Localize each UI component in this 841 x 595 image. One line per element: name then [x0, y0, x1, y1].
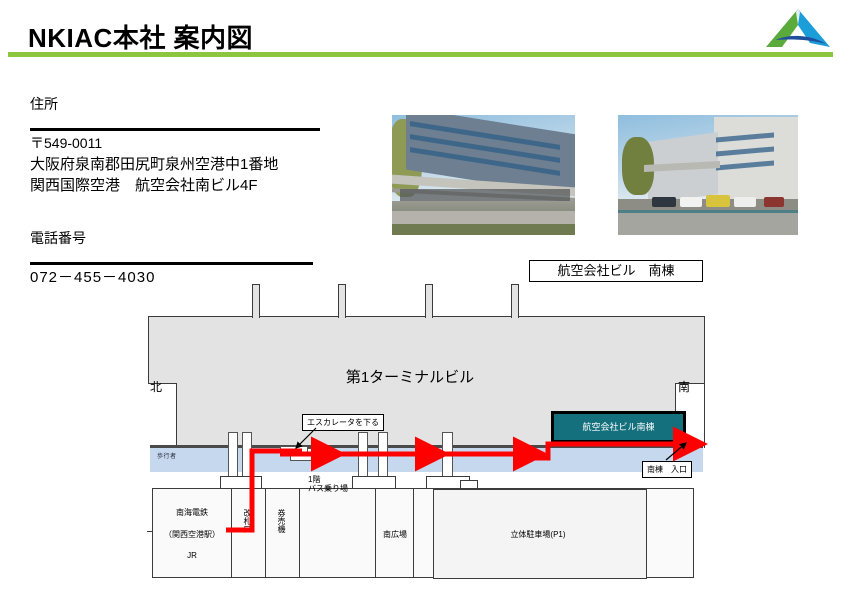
photo-car: [652, 197, 676, 207]
row-divider: [231, 489, 232, 577]
phone-label: 電話番号: [30, 228, 86, 248]
bus-stop-line-1: 1階: [308, 475, 348, 484]
photo-car: [734, 197, 756, 207]
terminal-map-diagram: 第1ターミナルビル 北 南 航空会社ビル南棟 歩行者 南海: [130, 298, 720, 583]
address-label: 住所: [30, 94, 58, 114]
parking-garage-label: 立体駐車場(P1): [483, 529, 593, 540]
title-underline-rule: [8, 52, 833, 57]
photo-building-main: [714, 117, 798, 201]
terminal-label: 第1ターミナルビル: [280, 366, 540, 387]
row-divider: [265, 489, 266, 577]
pedestrian-label: 歩行者: [157, 451, 177, 460]
address-line-1: 大阪府泉南郡田尻町泉州空港中1番地: [30, 154, 278, 175]
address-divider: [30, 128, 320, 131]
jetway-finger: [425, 284, 433, 318]
photo-car: [680, 197, 702, 207]
jetway-finger: [338, 284, 346, 318]
row-divider: [413, 489, 414, 577]
nankai-railway-line-2: （関西空港駅）: [155, 529, 229, 540]
nkiac-triangle-logo: [762, 6, 834, 50]
bus-stop-label: 1階 バス乗り場: [308, 475, 348, 493]
ticket-gate-label: 改札口: [243, 509, 253, 533]
row-left-tick: [147, 531, 153, 532]
row-divider: [299, 489, 300, 577]
address-zip: 〒549-0011: [30, 133, 278, 154]
phone-number: 072－455－4030: [30, 266, 155, 287]
photo-grass: [392, 224, 575, 235]
jetway-finger: [252, 284, 260, 318]
escalator-callout: エスカレータを下る: [302, 414, 384, 431]
phone-divider: [30, 262, 313, 265]
photo-caption: 航空会社ビル 南棟: [529, 260, 703, 282]
jetway-finger: [511, 284, 519, 318]
aviation-building-exterior-photo-2: [618, 115, 798, 235]
escalator-landing: [280, 446, 308, 455]
direction-north-label: 北: [150, 378, 162, 395]
entrance-callout: 南棟 入口: [642, 461, 692, 478]
destination-building-box: 航空会社ビル南棟: [551, 411, 686, 443]
ticket-machine-label: 券売機: [277, 509, 287, 533]
direction-south-label: 南: [678, 378, 690, 395]
nankai-railway-line-3: JR: [161, 551, 223, 560]
aviation-building-exterior-photo-1: [392, 115, 575, 235]
photo-car: [764, 197, 784, 207]
south-plaza-label: 南広場: [379, 529, 411, 540]
slide-page: NKIAC本社 案内図 住所 〒549-0011 大阪府泉南郡田尻町泉州空港中1…: [0, 0, 841, 595]
address-line-2: 関西国際空港 航空会社南ビル4F: [30, 175, 278, 196]
photo-road: [618, 213, 798, 235]
nankai-railway-line-1: 南海電鉄: [161, 507, 223, 518]
address-block: 〒549-0011 大阪府泉南郡田尻町泉州空港中1番地 関西国際空港 航空会社南…: [30, 133, 278, 196]
lower-facilities-row: 南海電鉄 （関西空港駅） JR 改札口 券売機 南広場 立体駐車場(P1): [152, 488, 694, 578]
photo-car: [706, 195, 730, 207]
row-divider: [375, 489, 376, 577]
page-title: NKIAC本社 案内図: [28, 18, 253, 55]
bus-stop-line-2: バス乗り場: [308, 484, 348, 493]
